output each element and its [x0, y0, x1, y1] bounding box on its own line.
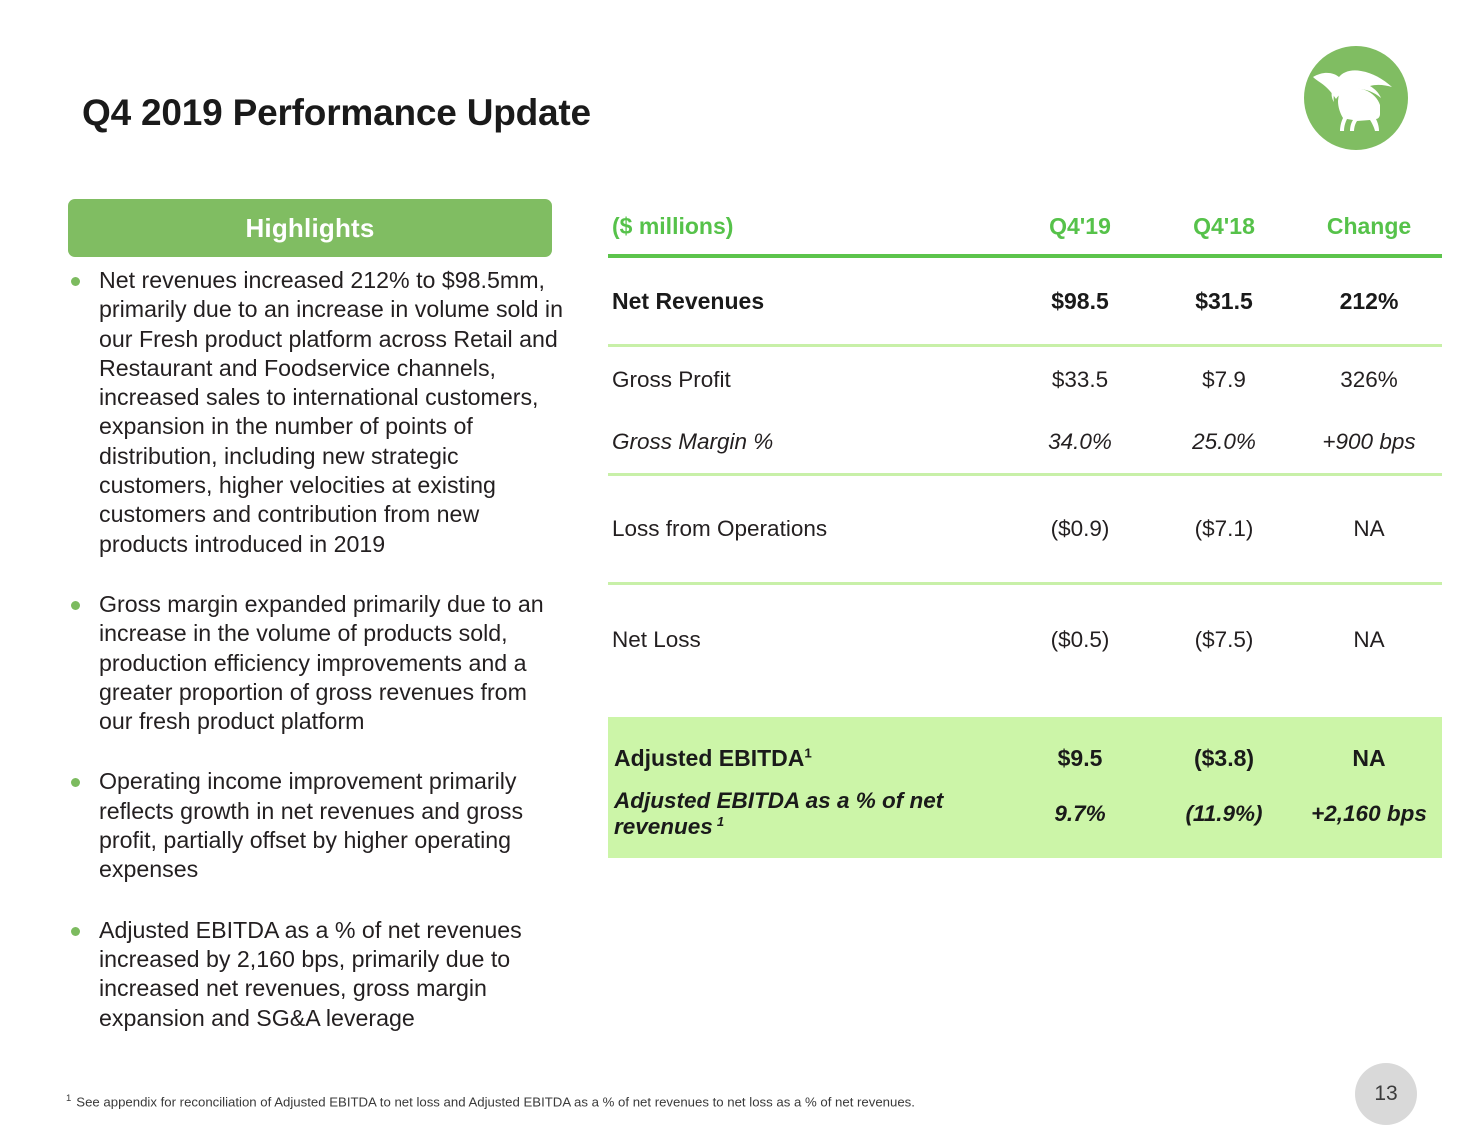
cell-net-revenues-q418: $31.5	[1152, 288, 1296, 315]
cell-adjusted-ebitda-change: NA	[1296, 745, 1442, 772]
cell-gross-profit-q418: $7.9	[1152, 367, 1296, 393]
page-number-badge: 13	[1355, 1063, 1417, 1125]
table-row: Gross Profit $33.5 $7.9 326%	[608, 349, 1442, 411]
row-label-net-loss: Net Loss	[608, 627, 1008, 653]
cell-adjusted-ebitda-pct-q418: (11.9%)	[1152, 801, 1296, 827]
row-label-adjusted-ebitda-pct: Adjusted EBITDA as a % of net revenues1	[608, 788, 1008, 840]
cell-gross-profit-change: 326%	[1296, 367, 1442, 393]
bullet-dot-icon	[71, 277, 80, 286]
highlights-bullet-list: Net revenues increased 212% to $98.5mm, …	[66, 266, 566, 1033]
gross-profit-block: Gross Profit $33.5 $7.9 326% Gross Margi…	[608, 347, 1442, 473]
column-header-q419: Q4'19	[1008, 213, 1152, 240]
cell-net-loss-q419: ($0.5)	[1008, 627, 1152, 653]
list-item-text: Net revenues increased 212% to $98.5mm, …	[99, 267, 563, 557]
cell-gross-profit-q419: $33.5	[1008, 367, 1152, 393]
cell-adjusted-ebitda-pct-change: +2,160 bps	[1296, 801, 1442, 827]
table-header-row: ($ millions) Q4'19 Q4'18 Change	[608, 204, 1442, 248]
cell-loss-from-operations-change: NA	[1296, 516, 1442, 542]
page-number: 13	[1374, 1082, 1397, 1106]
cell-adjusted-ebitda-q419: $9.5	[1008, 745, 1152, 772]
cell-net-revenues-change: 212%	[1296, 288, 1442, 315]
column-header-units: ($ millions)	[608, 213, 1008, 240]
list-item: Gross margin expanded primarily due to a…	[66, 590, 566, 736]
footnote: 1See appendix for reconciliation of Adju…	[66, 1093, 915, 1109]
footnote-marker: 1	[66, 1093, 71, 1104]
column-header-q418: Q4'18	[1152, 213, 1296, 240]
bullet-dot-icon	[71, 927, 80, 936]
row-label-gross-margin: Gross Margin %	[608, 429, 1008, 455]
cell-gross-margin-q418: 25.0%	[1152, 429, 1296, 455]
row-label-gross-profit: Gross Profit	[608, 367, 1008, 393]
footnote-text: See appendix for reconciliation of Adjus…	[76, 1094, 915, 1109]
cell-net-loss-change: NA	[1296, 627, 1442, 653]
cell-loss-from-operations-q418: ($7.1)	[1152, 516, 1296, 542]
list-item-text: Operating income improvement primarily r…	[99, 768, 523, 882]
table-row: Adjusted EBITDA as a % of net revenues1 …	[608, 786, 1442, 842]
bullet-dot-icon	[71, 778, 80, 787]
cell-adjusted-ebitda-q418: ($3.8)	[1152, 745, 1296, 772]
cell-gross-margin-q419: 34.0%	[1008, 429, 1152, 455]
table-row: Loss from Operations ($0.9) ($7.1) NA	[608, 476, 1442, 582]
column-header-change: Change	[1296, 213, 1442, 240]
cell-gross-margin-change: +900 bps	[1296, 429, 1442, 455]
list-item-text: Adjusted EBITDA as a % of net revenues i…	[99, 917, 522, 1031]
table-row: Net Revenues $98.5 $31.5 212%	[608, 258, 1442, 344]
highlights-header-label: Highlights	[245, 213, 374, 244]
cell-loss-from-operations-q419: ($0.9)	[1008, 516, 1152, 542]
list-item-text: Gross margin expanded primarily due to a…	[99, 591, 544, 734]
list-item: Operating income improvement primarily r…	[66, 767, 566, 884]
row-label-net-revenues: Net Revenues	[608, 288, 1008, 315]
financial-summary-table: ($ millions) Q4'19 Q4'18 Change Net Reve…	[608, 204, 1442, 858]
cell-net-loss-q418: ($7.5)	[1152, 627, 1296, 653]
footnote-marker: 1	[804, 745, 811, 760]
table-row: Adjusted EBITDA1 $9.5 ($3.8) NA	[608, 730, 1442, 786]
adjusted-ebitda-highlight-block: Adjusted EBITDA1 $9.5 ($3.8) NA Adjusted…	[608, 717, 1442, 858]
footnote-marker: 1	[717, 814, 724, 829]
row-label-loss-from-operations: Loss from Operations	[608, 516, 1008, 542]
row-label-adjusted-ebitda-pct-text: Adjusted EBITDA as a % of net revenues	[614, 788, 943, 839]
row-label-adjusted-ebitda-text: Adjusted EBITDA	[614, 745, 804, 771]
cell-adjusted-ebitda-pct-q419: 9.7%	[1008, 801, 1152, 827]
list-item: Adjusted EBITDA as a % of net revenues i…	[66, 916, 566, 1033]
cell-net-revenues-q419: $98.5	[1008, 288, 1152, 315]
table-row: Gross Margin % 34.0% 25.0% +900 bps	[608, 411, 1442, 473]
highlights-header: Highlights	[68, 199, 552, 257]
table-row: Net Loss ($0.5) ($7.5) NA	[608, 585, 1442, 695]
bull-logo	[1299, 41, 1413, 155]
row-label-adjusted-ebitda: Adjusted EBITDA1	[608, 745, 1008, 772]
bullet-dot-icon	[71, 601, 80, 610]
page-title: Q4 2019 Performance Update	[82, 92, 591, 134]
slide-root: Q4 2019 Performance Update Highlights Ne…	[0, 0, 1478, 1142]
list-item: Net revenues increased 212% to $98.5mm, …	[66, 266, 566, 559]
